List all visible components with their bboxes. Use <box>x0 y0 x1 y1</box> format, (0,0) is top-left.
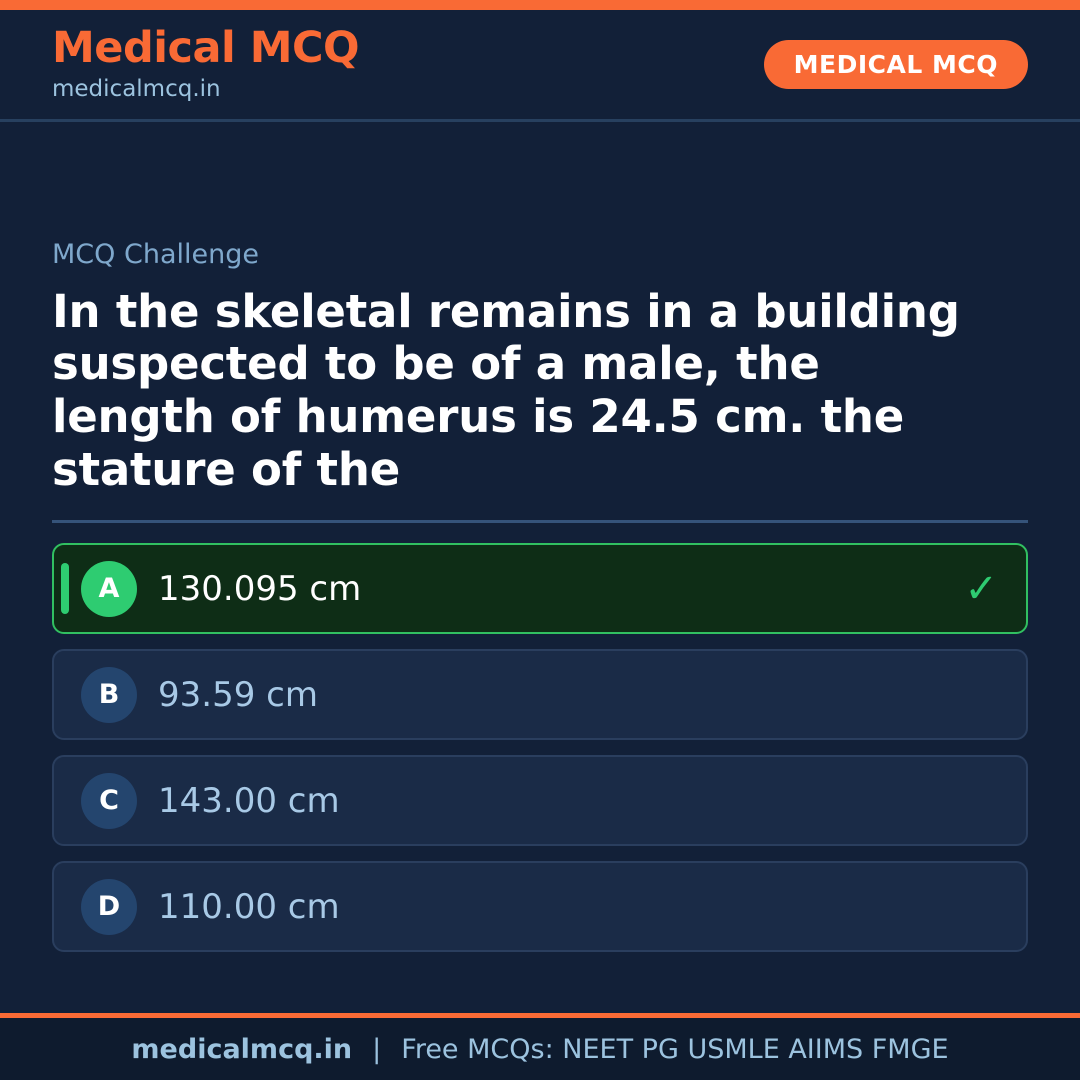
footer-separator: | <box>372 1034 381 1065</box>
option-a-text: 130.095 cm <box>158 572 964 606</box>
brand-title: Medical MCQ <box>52 26 359 71</box>
footer: medicalmcq.in | Free MCQs: NEET PG USMLE… <box>0 1013 1080 1080</box>
eyebrow-label: MCQ Challenge <box>52 240 1028 270</box>
question-text: In the skeletal remains in a building su… <box>52 286 982 497</box>
top-accent-bar <box>0 0 1080 10</box>
footer-site-label: medicalmcq.in <box>131 1034 352 1065</box>
header: Medical MCQ medicalmcq.in MEDICAL MCQ <box>0 10 1080 122</box>
option-d-letter-badge: D <box>81 879 137 935</box>
header-badge: MEDICAL MCQ <box>764 40 1028 89</box>
option-b-text: 93.59 cm <box>158 678 964 712</box>
option-c-text: 143.00 cm <box>158 784 964 818</box>
correct-accent-bar <box>61 563 69 614</box>
main-content: MCQ Challenge In the skeletal remains in… <box>0 122 1080 1013</box>
option-b-letter-badge: B <box>81 667 137 723</box>
option-c[interactable]: C 143.00 cm ✓ <box>52 755 1028 846</box>
option-a[interactable]: A 130.095 cm ✓ <box>52 543 1028 634</box>
options-list: A 130.095 cm ✓ B 93.59 cm ✓ C 143.00 cm … <box>52 543 1028 952</box>
option-b[interactable]: B 93.59 cm ✓ <box>52 649 1028 740</box>
mcq-card: Medical MCQ medicalmcq.in MEDICAL MCQ MC… <box>0 0 1080 1080</box>
option-d[interactable]: D 110.00 cm ✓ <box>52 861 1028 952</box>
footer-exams-label: Free MCQs: NEET PG USMLE AIIMS FMGE <box>401 1034 948 1065</box>
brand-subtitle: medicalmcq.in <box>52 76 359 104</box>
brand: Medical MCQ medicalmcq.in <box>52 26 359 104</box>
section-divider <box>52 520 1028 523</box>
check-icon: ✓ <box>964 569 998 609</box>
option-d-text: 110.00 cm <box>158 890 964 924</box>
option-a-letter-badge: A <box>81 561 137 617</box>
option-c-letter-badge: C <box>81 773 137 829</box>
